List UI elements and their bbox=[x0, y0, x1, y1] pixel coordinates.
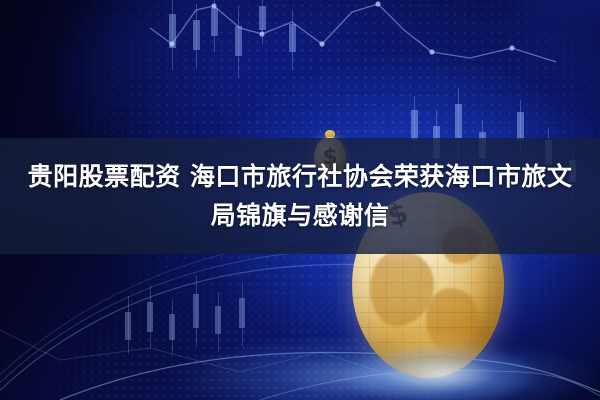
title-overlay-band: 贵阳股票配资 海口市旅行社协会荣获海口市旅文 局锦旗与感谢信 bbox=[0, 138, 600, 254]
banner-title-line-1: 贵阳股票配资 海口市旅行社协会荣获海口市旅文 bbox=[28, 157, 573, 196]
banner-title-line-2: 局锦旗与感谢信 bbox=[211, 196, 390, 235]
finance-news-banner: $ $ 贵阳股票配资 海口市旅行社协会荣获海口市旅文 局锦旗与感谢信 bbox=[0, 0, 600, 400]
globe-base-glow bbox=[300, 330, 580, 400]
